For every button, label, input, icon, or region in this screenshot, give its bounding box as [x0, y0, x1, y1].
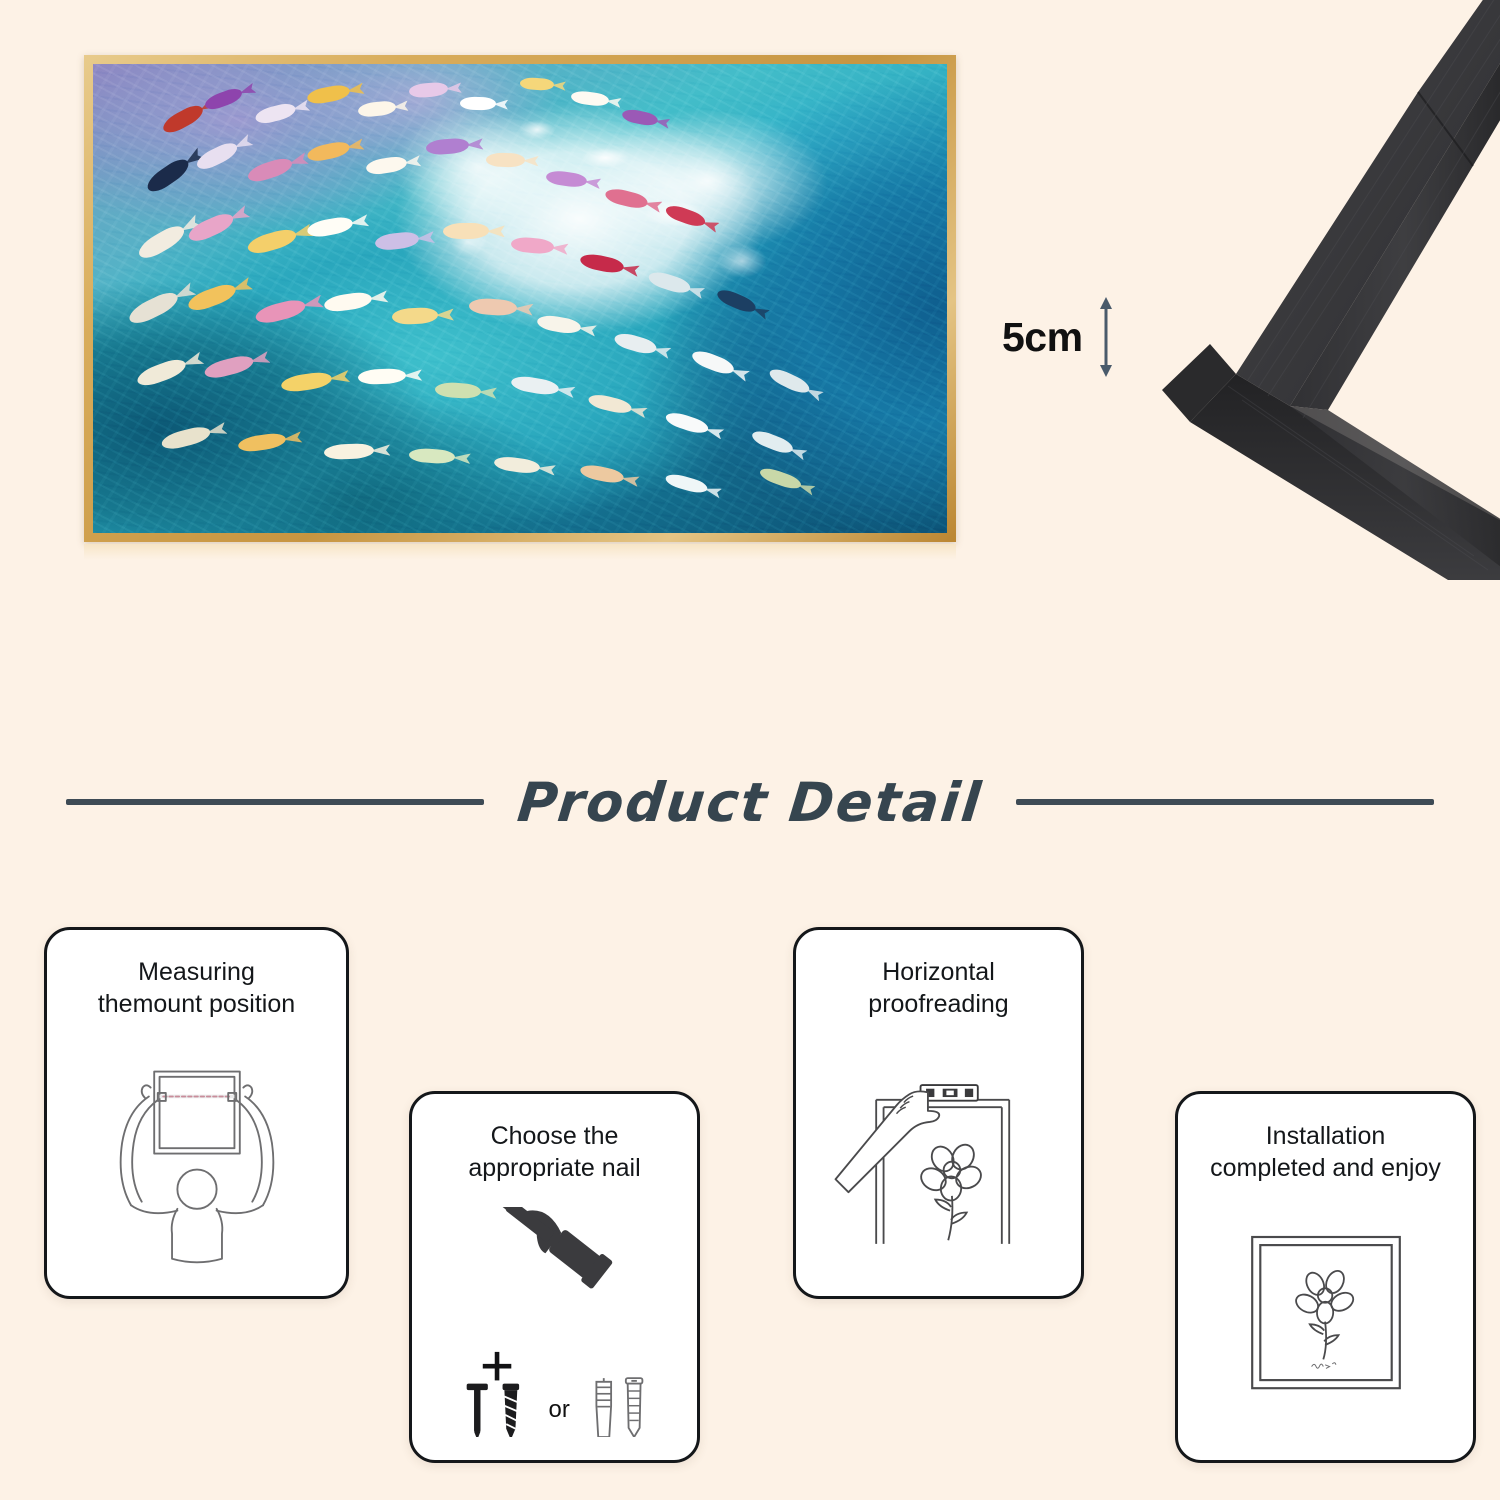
framed-flower-picture-icon	[1236, 1228, 1416, 1417]
step-card-horizontal-proofreading: Horizontal proofreading	[793, 927, 1084, 1299]
frame-corner-sample	[1118, 0, 1500, 580]
step-card-4-art	[1178, 1184, 1473, 1460]
step-card-4-title-line1: Installation	[1210, 1120, 1441, 1152]
step-card-3-title: Horizontal proofreading	[850, 956, 1026, 1020]
step-card-choose-nail: Choose the appropriate nail	[409, 1091, 700, 1463]
or-label: or	[548, 1396, 569, 1423]
divider-left	[66, 799, 484, 805]
thickness-callout: 5cm	[1002, 296, 1115, 378]
page-title: Product Detail	[515, 771, 986, 834]
step-card-installation-complete: Installation completed and enjoy	[1175, 1091, 1476, 1463]
hand-with-spirit-level-icon	[828, 1061, 1050, 1255]
painting-artwork	[93, 64, 947, 533]
step-card-1-title-line1: Measuring	[98, 956, 295, 988]
person-holding-frame-measure-icon	[90, 1046, 304, 1270]
step-card-2-title: Choose the appropriate nail	[450, 1120, 658, 1184]
step-card-2-title-line1: Choose the	[468, 1120, 640, 1152]
framed-painting	[84, 55, 956, 542]
step-card-measuring: Measuring themount position	[44, 927, 349, 1299]
step-card-3-title-line2: proofreading	[868, 988, 1008, 1020]
step-card-3-art	[796, 1020, 1081, 1296]
painting-reflection	[84, 544, 956, 896]
step-card-1-art	[47, 1020, 346, 1296]
double-arrow-vertical-icon	[1097, 296, 1115, 378]
product-detail-page: 5cm	[0, 0, 1500, 1500]
step-card-4-title: Installation completed and enjoy	[1192, 1120, 1459, 1184]
step-card-2-art: or	[412, 1184, 697, 1460]
section-title-row: Product Detail	[0, 766, 1500, 838]
step-card-1-title: Measuring themount position	[80, 956, 313, 1020]
divider-right	[1016, 799, 1434, 805]
step-card-3-title-line1: Horizontal	[868, 956, 1008, 988]
step-card-1-title-line2: themount position	[98, 988, 295, 1020]
step-card-2-title-line2: appropriate nail	[468, 1152, 640, 1184]
step-card-4-title-line2: completed and enjoy	[1210, 1152, 1441, 1184]
hammer-and-nails-icon: or	[449, 1207, 661, 1437]
thickness-label: 5cm	[1002, 317, 1083, 358]
